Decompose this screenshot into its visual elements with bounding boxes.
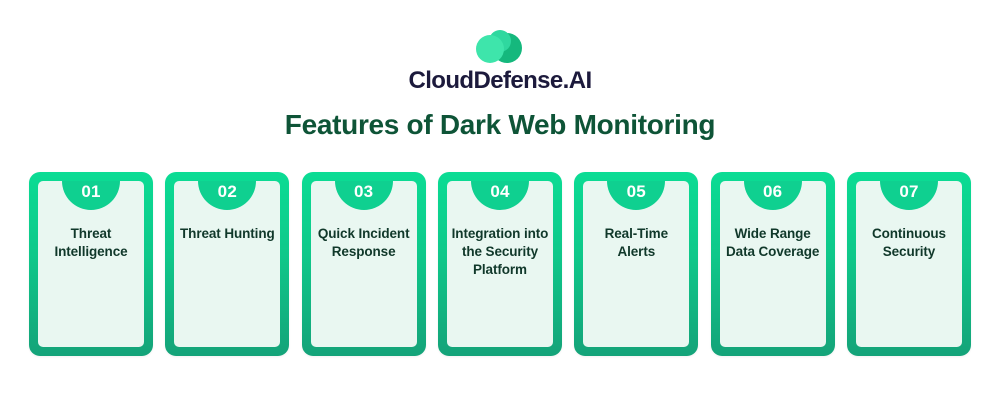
page-title: Features of Dark Web Monitoring	[0, 109, 1000, 141]
feature-card-number-badge: 02	[198, 181, 256, 210]
feature-card-number-badge: 04	[471, 181, 529, 210]
brand-block: CloudDefense.AI	[0, 30, 1000, 93]
feature-card-label: Continuous Security	[859, 225, 959, 261]
feature-card-number-badge: 03	[335, 181, 393, 210]
feature-card-label: Quick Incident Response	[314, 225, 414, 261]
feature-card-number: 05	[627, 183, 646, 200]
feature-card[interactable]: 03 Quick Incident Response	[302, 172, 426, 356]
feature-card-label: Threat Hunting	[177, 225, 277, 243]
feature-card[interactable]: 05 Real-Time Alerts	[574, 172, 698, 356]
feature-card[interactable]: 07 Continuous Security	[847, 172, 971, 356]
feature-card-label: Wide Range Data Coverage	[723, 225, 823, 261]
feature-card-number: 01	[81, 183, 100, 200]
feature-card-label: Integration into the Security Platform	[450, 225, 550, 280]
feature-card-number: 02	[218, 183, 237, 200]
feature-card[interactable]: 02 Threat Hunting	[165, 172, 289, 356]
feature-card-number-badge: 01	[62, 181, 120, 210]
feature-card-number: 07	[899, 183, 918, 200]
feature-card-number-badge: 05	[607, 181, 665, 210]
feature-card-inner: 03 Quick Incident Response	[311, 181, 417, 347]
feature-card-inner: 05 Real-Time Alerts	[583, 181, 689, 347]
feature-card-number-badge: 07	[880, 181, 938, 210]
feature-card-number: 03	[354, 183, 373, 200]
feature-card-inner: 04 Integration into the Security Platfor…	[447, 181, 553, 347]
feature-card-number: 04	[490, 183, 509, 200]
feature-card-number-badge: 06	[744, 181, 802, 210]
feature-card-label: Threat Intelligence	[41, 225, 141, 261]
feature-card-inner: 07 Continuous Security	[856, 181, 962, 347]
feature-card-inner: 02 Threat Hunting	[174, 181, 280, 347]
feature-card[interactable]: 01 Threat Intelligence	[29, 172, 153, 356]
feature-card[interactable]: 04 Integration into the Security Platfor…	[438, 172, 562, 356]
cloud-circles-logo-icon	[473, 30, 527, 64]
feature-card-number: 06	[763, 183, 782, 200]
feature-card[interactable]: 06 Wide Range Data Coverage	[711, 172, 835, 356]
feature-card-inner: 01 Threat Intelligence	[38, 181, 144, 347]
feature-card-inner: 06 Wide Range Data Coverage	[720, 181, 826, 347]
feature-cards-row: 01 Threat Intelligence 02 Threat Hunting…	[29, 172, 971, 356]
infographic-page: CloudDefense.AI Features of Dark Web Mon…	[0, 0, 1000, 419]
feature-card-label: Real-Time Alerts	[586, 225, 686, 261]
brand-wordmark: CloudDefense.AI	[408, 69, 591, 93]
